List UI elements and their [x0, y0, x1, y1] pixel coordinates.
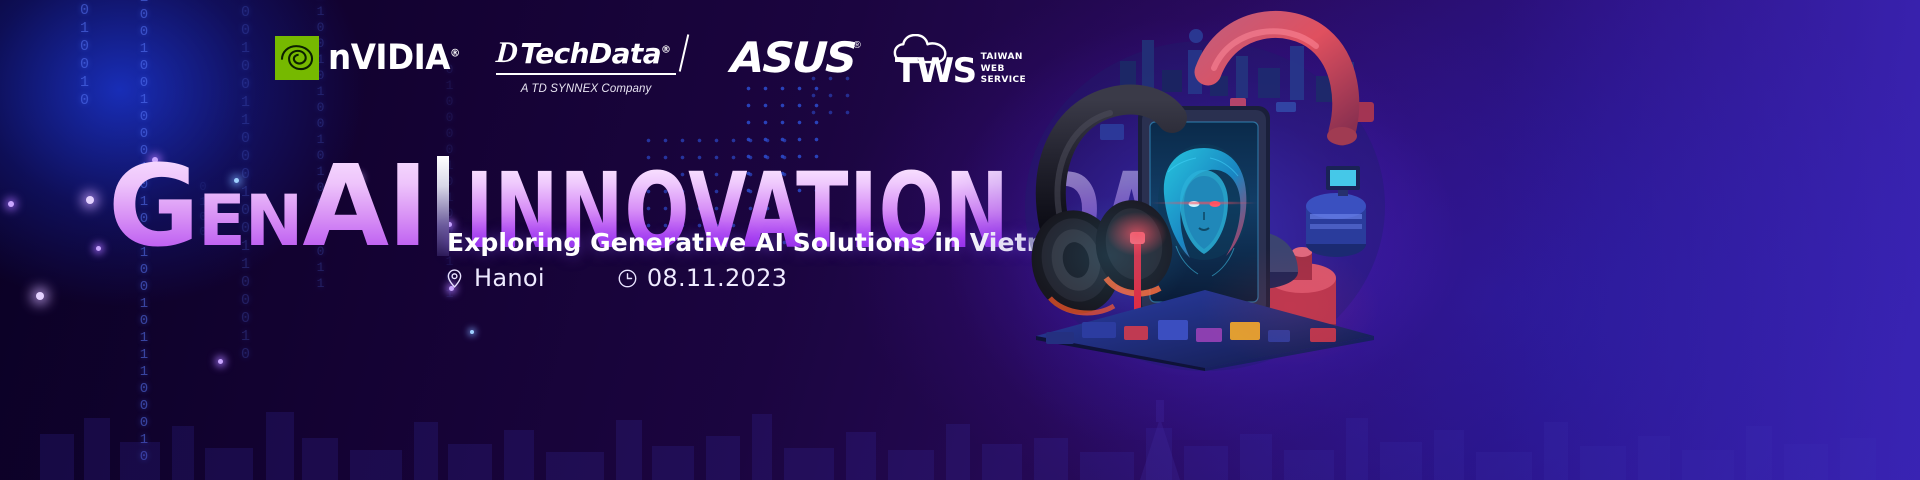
headline-genai-ai: AI: [302, 154, 426, 260]
sponsor-logo-row: nVIDIA® D TechData® A TD SYNNEX Company …: [275, 36, 1026, 94]
location-pin-icon: [444, 268, 465, 289]
event-meta-row: Hanoi 08.11.2023: [444, 262, 787, 294]
headline-genai-g: G: [108, 154, 198, 260]
nvidia-registered-mark: ®: [450, 46, 460, 59]
cylindrical-server-units: [1306, 193, 1366, 257]
tech-data-registered-mark: ®: [661, 44, 670, 55]
glow-particle: [8, 201, 14, 207]
headline-genai: G EN AI: [108, 154, 427, 260]
glow-particle: [470, 330, 474, 334]
binary-stream: 0010010: [76, 0, 93, 110]
event-banner: 0010010 1001001000101001001011100010 100…: [0, 0, 1920, 480]
nvidia-wordmark: nVIDIA®: [328, 38, 460, 78]
nvidia-eye-glyph: [278, 39, 316, 77]
glow-particle: [36, 292, 44, 300]
glow-particle: [86, 196, 94, 204]
logo-tech-data[interactable]: D TechData® A TD SYNNEX Company: [496, 36, 677, 95]
clock-icon: [617, 268, 638, 289]
event-location: Hanoi: [444, 264, 545, 292]
event-date: 08.11.2023: [617, 264, 787, 292]
tech-data-tagline: A TD SYNNEX Company: [521, 83, 652, 95]
event-date-label: 08.11.2023: [647, 264, 787, 292]
nvidia-eye-icon: [275, 36, 319, 80]
tech-data-wordmark: TechData®: [520, 37, 670, 70]
headline-genai-en: EN: [198, 188, 302, 255]
cloud-icon: [893, 34, 949, 64]
tech-data-swoosh-icon: D: [495, 36, 519, 70]
city-skyline-silhouette: [0, 360, 1920, 480]
tech-data-lockup: D TechData®: [496, 36, 677, 75]
asus-wordmark: ASUS: [730, 36, 856, 80]
logo-nvidia[interactable]: nVIDIA®: [275, 36, 470, 80]
isometric-ai-tech-scene: [990, 6, 1400, 371]
event-location-label: Hanoi: [474, 264, 545, 292]
glow-particle: [96, 246, 101, 251]
logo-asus[interactable]: ASUS ®: [731, 36, 860, 80]
